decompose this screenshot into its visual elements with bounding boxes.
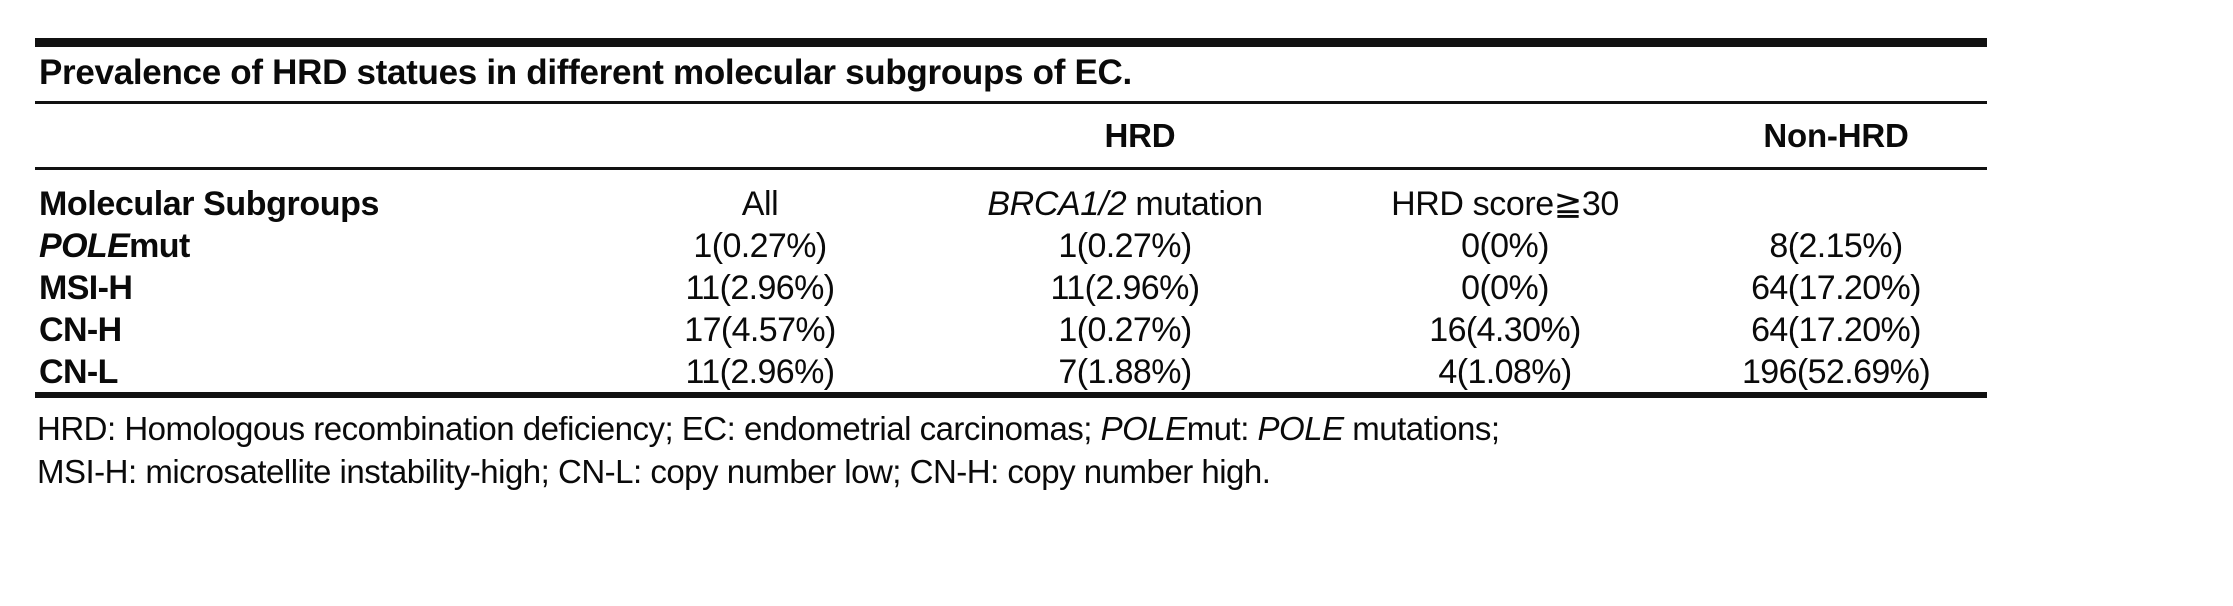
footnote-text-a: HRD: Homologous recombination deficiency… — [37, 410, 1101, 447]
column-header-hrd-score: HRD score≧30 — [1325, 184, 1685, 224]
table-title: Prevalence of HRD statues in different m… — [35, 47, 1987, 101]
table-row: MSI-H 11(2.96%) 11(2.96%) 0(0%) 64(17.20… — [35, 266, 1987, 308]
column-header-all: All — [595, 185, 925, 224]
footnote-text-c: mutations; — [1344, 410, 1500, 447]
cell-all: 11(2.96%) — [595, 353, 925, 392]
cell-non-hrd: 64(17.20%) — [1685, 269, 1987, 308]
cell-all: 11(2.96%) — [595, 269, 925, 308]
table-row: POLEmut 1(0.27%) 1(0.27%) 0(0%) 8(2.15%) — [35, 224, 1987, 266]
footnote-line-2: MSI-H: microsatellite instability-high; … — [35, 448, 1987, 492]
cell-hrd-score: 4(1.08%) — [1325, 353, 1685, 392]
column-header-brca-mutation: BRCA1/2 mutation — [925, 185, 1325, 224]
group-header-non-hrd: Non-HRD — [1685, 117, 1987, 155]
cell-hrd-score: 0(0%) — [1325, 227, 1685, 266]
table-row: CN-L 11(2.96%) 7(1.88%) 4(1.08%) 196(52.… — [35, 350, 1987, 392]
cell-non-hrd: 196(52.69%) — [1685, 353, 1987, 392]
cell-hrd-score: 0(0%) — [1325, 269, 1685, 308]
row-label-polemut: POLEmut — [35, 227, 595, 266]
table-top-double-rule — [35, 38, 1987, 47]
row-label-cn-h: CN-H — [35, 311, 595, 350]
cell-brca: 1(0.27%) — [925, 227, 1325, 266]
prevalence-table: Prevalence of HRD statues in different m… — [35, 38, 1987, 492]
pole-gene-name: POLE — [39, 227, 129, 265]
table-footnotes: HRD: Homologous recombination deficiency… — [35, 398, 1987, 492]
footnote-text-b: mut: — [1187, 410, 1258, 447]
cell-non-hrd: 8(2.15%) — [1685, 227, 1987, 266]
table-row: CN-H 17(4.57%) 1(0.27%) 16(4.30%) 64(17.… — [35, 308, 1987, 350]
cell-all: 1(0.27%) — [595, 227, 925, 266]
brca-mutation-suffix: mutation — [1126, 185, 1262, 223]
brca-gene-name: BRCA1/2 — [987, 185, 1126, 223]
cell-hrd-score: 16(4.30%) — [1325, 311, 1685, 350]
cell-brca: 1(0.27%) — [925, 311, 1325, 350]
footnote-pole-gene-1: POLE — [1101, 410, 1187, 447]
table-column-header-row: Molecular Subgroups All BRCA1/2 mutation… — [35, 170, 1987, 224]
footnote-pole-gene-2: POLE — [1258, 410, 1344, 447]
table-group-header-row: HRD Non-HRD — [35, 104, 1987, 167]
footnote-line-1: HRD: Homologous recombination deficiency… — [35, 409, 1987, 449]
row-label-msi-h: MSI-H — [35, 269, 595, 308]
cell-all: 17(4.57%) — [595, 311, 925, 350]
pole-suffix: mut — [129, 227, 190, 265]
column-header-subgroups: Molecular Subgroups — [35, 185, 595, 224]
cell-brca: 11(2.96%) — [925, 269, 1325, 308]
cell-non-hrd: 64(17.20%) — [1685, 311, 1987, 350]
cell-brca: 7(1.88%) — [925, 353, 1325, 392]
row-label-cn-l: CN-L — [35, 353, 595, 392]
group-header-hrd: HRD — [595, 117, 1685, 155]
table-figure-page: Prevalence of HRD statues in different m… — [0, 0, 2233, 606]
